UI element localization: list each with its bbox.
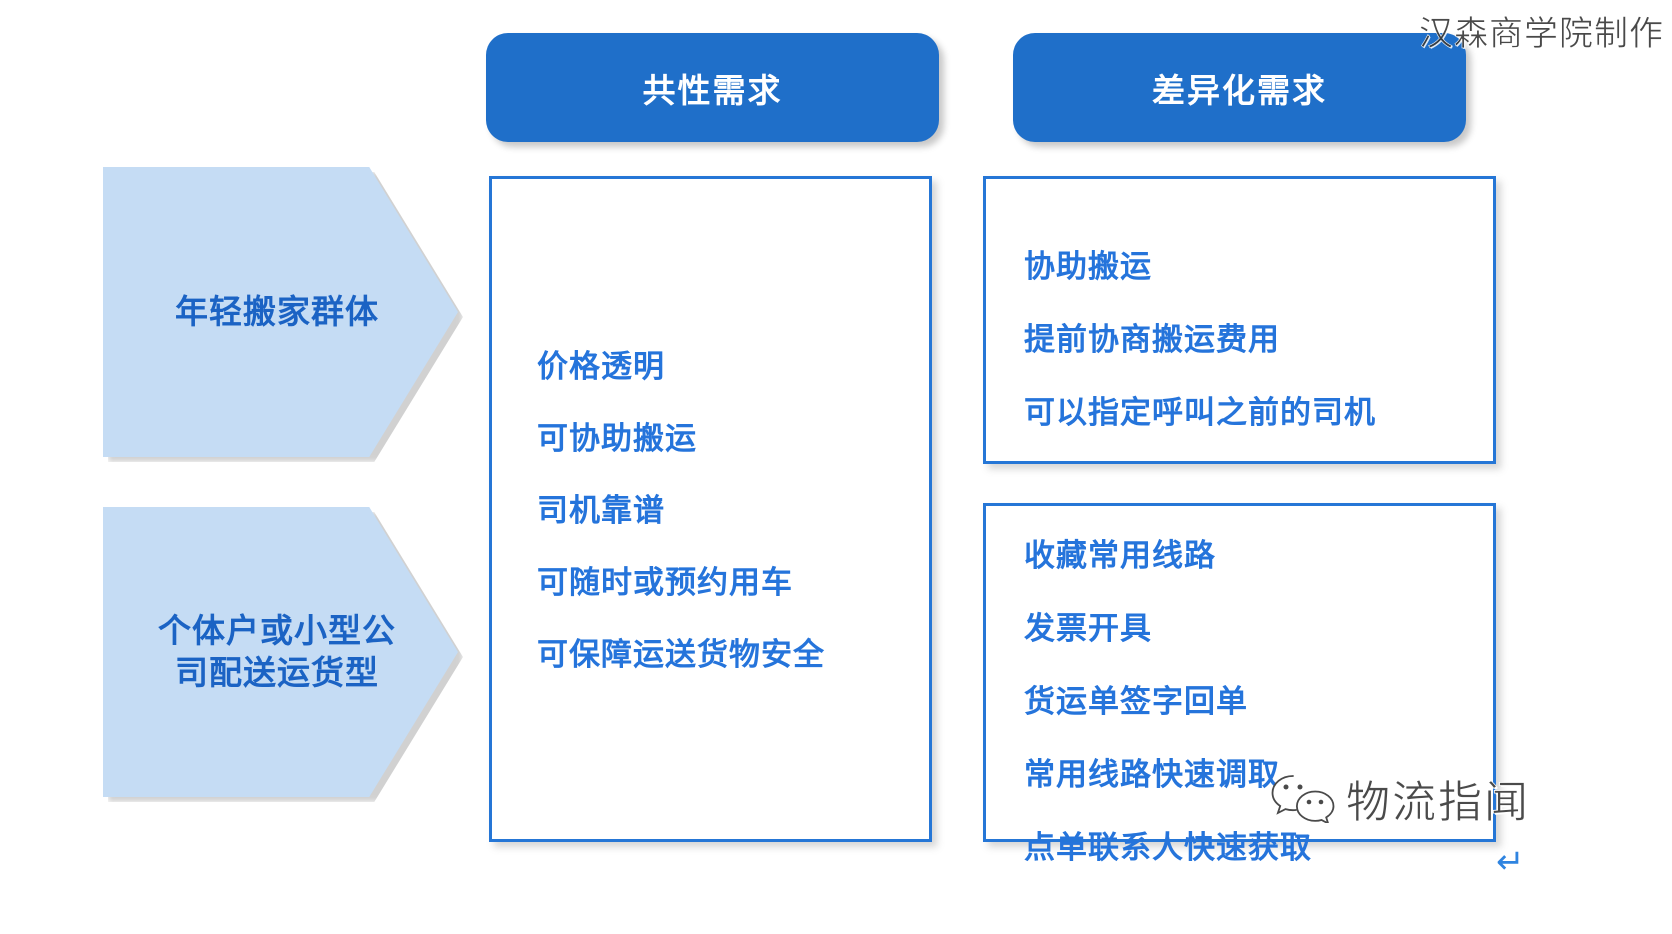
list-item: 协助搬运 (1024, 241, 1493, 286)
differentiated-needs-box-upper: 协助搬运 提前协商搬运费用 可以指定呼叫之前的司机 (983, 176, 1496, 464)
list-item: 可保障运送货物安全 (537, 629, 929, 674)
watermark-top-right: 汉森商学院制作 (1419, 6, 1664, 55)
common-needs-list: 价格透明 可协助搬运 司机靠谱 可随时或预约用车 可保障运送货物安全 (492, 341, 929, 701)
list-item: 提前协商搬运费用 (1024, 314, 1493, 359)
header-pill-differentiated-needs-label: 差异化需求 (1152, 64, 1327, 112)
header-pill-differentiated-needs: 差异化需求 (1013, 33, 1466, 142)
slide-canvas: 共性需求 差异化需求 年轻搬家群体 个体户或小型公 司配送运货型 价格透明 可协… (0, 0, 1672, 934)
watermark-bottom-right: 物流指闻 (1270, 766, 1530, 830)
segment-chevron-2-label: 个体户或小型公 司配送运货型 (146, 610, 416, 694)
watermark-bottom-right-label: 物流指闻 (1346, 766, 1530, 830)
list-item: 货运单签字回单 (1024, 676, 1493, 721)
segment-chevron-2-line-2: 司配送运货型 (146, 652, 409, 694)
segment-chevron-1-line-1: 年轻搬家群体 (146, 291, 409, 333)
list-item: 发票开具 (1024, 603, 1493, 648)
segment-chevron-1-label: 年轻搬家群体 (146, 291, 416, 333)
list-item: 可随时或预约用车 (537, 557, 929, 602)
list-item: 收藏常用线路 (1024, 530, 1493, 575)
segment-chevron-young-movers: 年轻搬家群体 (103, 167, 458, 457)
header-pill-common-needs: 共性需求 (486, 33, 939, 142)
wechat-icon (1270, 773, 1336, 823)
common-needs-box: 价格透明 可协助搬运 司机靠谱 可随时或预约用车 可保障运送货物安全 (489, 176, 932, 842)
list-item: 可协助搬运 (537, 413, 929, 458)
header-pill-common-needs-label: 共性需求 (643, 64, 783, 112)
segment-chevron-2-line-1: 个体户或小型公 (146, 610, 409, 652)
list-item: 可以指定呼叫之前的司机 (1024, 387, 1493, 432)
segment-chevron-small-business-delivery: 个体户或小型公 司配送运货型 (103, 507, 458, 797)
return-arrow-icon: ↵ (1496, 845, 1525, 879)
differentiated-needs-list-upper: 协助搬运 提前协商搬运费用 可以指定呼叫之前的司机 (986, 241, 1493, 460)
list-item: 价格透明 (537, 341, 929, 386)
differentiated-needs-list-lower: 收藏常用线路 发票开具 货运单签字回单 常用线路快速调取 点单联系人快速获取 (986, 530, 1493, 895)
list-item: 司机靠谱 (537, 485, 929, 530)
